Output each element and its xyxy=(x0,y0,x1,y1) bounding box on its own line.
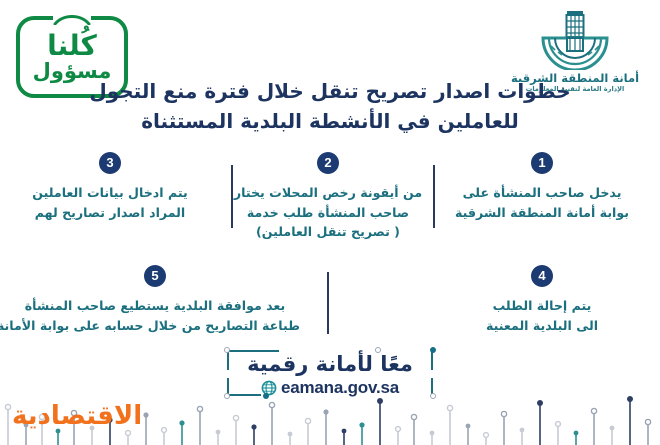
step-5-line-1: بعد موافقة البلدية يستطيع صاحب المنشأة xyxy=(10,296,300,316)
step-1-line-1: يدخل صاحب المنشأة على xyxy=(432,183,652,203)
step-5-text: بعد موافقة البلدية يستطيع صاحب المنشأة ط… xyxy=(10,296,300,335)
logo-swoosh-icon xyxy=(53,13,91,25)
infographic-canvas: كُلنا مسؤول أمانة المنط xyxy=(0,0,660,445)
step-1-line-2: بوابة أمانة المنطقة الشرقية xyxy=(432,203,652,223)
step-4: 4 يتم إحالة الطلب الى البلدية المعنية xyxy=(432,265,652,335)
deco-bracket-left-vert xyxy=(227,350,229,370)
page-title-line1: خطوات اصدار تصريح تنقل خلال فترة منع الت… xyxy=(0,76,660,106)
step-1: 1 يدخل صاحب المنشأة على بوابة أمانة المن… xyxy=(432,152,652,222)
step-5-number-badge: 5 xyxy=(144,265,166,287)
step-2: 2 من أيقونة رخص المحلات يختار صاحب المنش… xyxy=(228,152,428,242)
step-4-number-badge: 4 xyxy=(531,265,553,287)
step-3-number-badge: 3 xyxy=(99,152,121,174)
step-2-line-3: ( تصريح تنقل العاملين) xyxy=(228,222,428,242)
step-3-line-1: يتم ادخال بيانات العاملين xyxy=(10,183,210,203)
step-4-line-2: الى البلدية المعنية xyxy=(432,316,652,336)
step-1-number-badge: 1 xyxy=(531,152,553,174)
step-3: 3 يتم ادخال بيانات العاملين المراد اصدار… xyxy=(10,152,210,222)
step-5: 5 بعد موافقة البلدية يستطيع صاحب المنشأة… xyxy=(10,265,300,335)
step-1-text: يدخل صاحب المنشأة على بوابة أمانة المنطق… xyxy=(432,183,652,222)
step-4-line-1: يتم إحالة الطلب xyxy=(432,296,652,316)
step-5-line-2: طباعة التصاريح من خلال حسابه على بوابة ا… xyxy=(10,316,300,336)
page-title: خطوات اصدار تصريح تنقل خلال فترة منع الت… xyxy=(0,76,660,136)
kullana-logo-line1: كُلنا xyxy=(47,32,97,60)
footer-tagline: معًا لأمانة رقمية xyxy=(247,352,413,376)
step-4-text: يتم إحالة الطلب الى البلدية المعنية xyxy=(432,296,652,335)
step-2-text: من أيقونة رخص المحلات يختار صاحب المنشأة… xyxy=(228,183,428,242)
step-2-number-badge: 2 xyxy=(317,152,339,174)
step-2-line-1: من أيقونة رخص المحلات يختار xyxy=(228,183,428,203)
deco-node-1 xyxy=(224,347,230,353)
watermark-al-eqtisadiah: الاقتصادية xyxy=(12,403,142,429)
deco-node-2 xyxy=(430,347,436,353)
step-3-text: يتم ادخال بيانات العاملين المراد اصدار ت… xyxy=(10,183,210,222)
step-3-line-2: المراد اصدار تصاريح لهم xyxy=(10,203,210,223)
step-divider-3 xyxy=(327,272,329,334)
step-2-line-2: صاحب المنشأة طلب خدمة xyxy=(228,203,428,223)
page-title-line2: للعاملين في الأنشطة البلدية المستثناة xyxy=(0,106,660,136)
deco-bracket-right-vert xyxy=(431,350,433,370)
municipality-emblem-icon xyxy=(537,8,613,70)
